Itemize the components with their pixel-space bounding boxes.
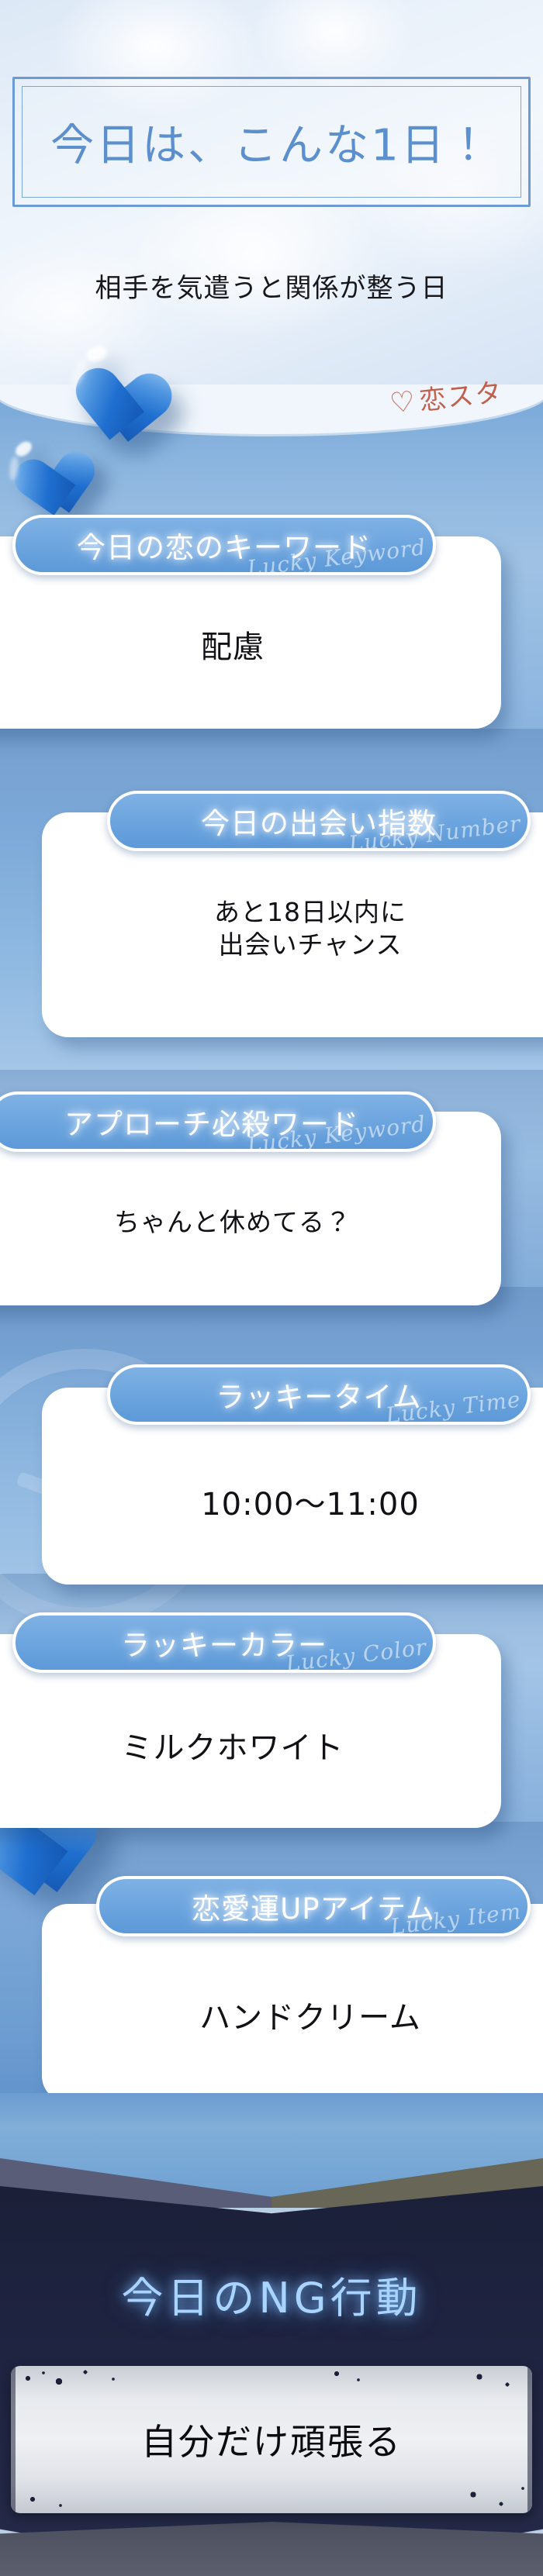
card-label: ラッキーカラー	[121, 1622, 327, 1664]
card-header-pill: ラッキーカラー Lucky Color	[12, 1612, 436, 1673]
heart-decoration-icon	[0, 429, 76, 502]
fortune-card[interactable]: ラッキータイム Lucky Time 10:00〜11:00	[42, 1388, 543, 1585]
fortune-card[interactable]: 今日の恋のキーワード Lucky Keyword 配慮	[0, 536, 501, 729]
page-subtitle: 相手を気遣うと関係が整う日	[0, 267, 543, 305]
card-header-pill: 恋愛運UPアイテム Lucky Item	[96, 1876, 531, 1936]
heart-decoration-icon	[63, 336, 151, 417]
page-title: 今日は、こんな1日！	[15, 111, 528, 174]
card-value: ちゃんと休めてる？	[0, 1206, 501, 1239]
ng-title: 今日のNG行動	[0, 2264, 543, 2325]
heart-outline-icon: ♡	[389, 385, 418, 419]
ng-value: 自分だけ頑張る	[141, 2414, 402, 2465]
card-label: 恋愛運UPアイテム	[192, 1885, 435, 1927]
fortune-card[interactable]: アプローチ必殺ワード Lucky Keyword ちゃんと休めてる？	[0, 1112, 501, 1305]
card-header-pill: アプローチ必殺ワード Lucky Keyword	[0, 1091, 436, 1152]
card-header-pill: 今日の出会い指数 Lucky Number	[107, 791, 531, 851]
fortune-card[interactable]: ラッキーカラー Lucky Color ミルクホワイト	[0, 1634, 501, 1828]
fortune-card[interactable]: 恋愛運UPアイテム Lucky Item ハンドクリーム	[42, 1904, 543, 2102]
ng-value-box[interactable]: 自分だけ頑張る	[11, 2366, 532, 2513]
card-label: 今日の出会い指数	[201, 800, 437, 842]
card-header-pill: ラッキータイム Lucky Time	[107, 1364, 531, 1425]
card-value: ミルクホワイト	[0, 1729, 501, 1768]
page-title-frame: 今日は、こんな1日！	[12, 77, 531, 207]
card-label: ラッキータイム	[216, 1374, 421, 1416]
fortune-poster: 今日は、こんな1日！ 相手を気遣うと関係が整う日 ♡恋スタ 今日の恋のキーワード…	[0, 0, 543, 2576]
card-value: ハンドクリーム	[42, 1998, 543, 2038]
card-value: あと18日以内に 出会いチャンス	[42, 896, 543, 961]
card-header-pill: 今日の恋のキーワード Lucky Keyword	[12, 515, 436, 575]
card-label: 今日の恋のキーワード	[77, 524, 372, 566]
card-value: 10:00〜11:00	[42, 1485, 543, 1525]
card-value: 配慮	[0, 628, 501, 667]
fortune-card[interactable]: 今日の出会い指数 Lucky Number あと18日以内に 出会いチャンス	[42, 812, 543, 1037]
card-label: アプローチ必殺ワード	[64, 1101, 359, 1143]
